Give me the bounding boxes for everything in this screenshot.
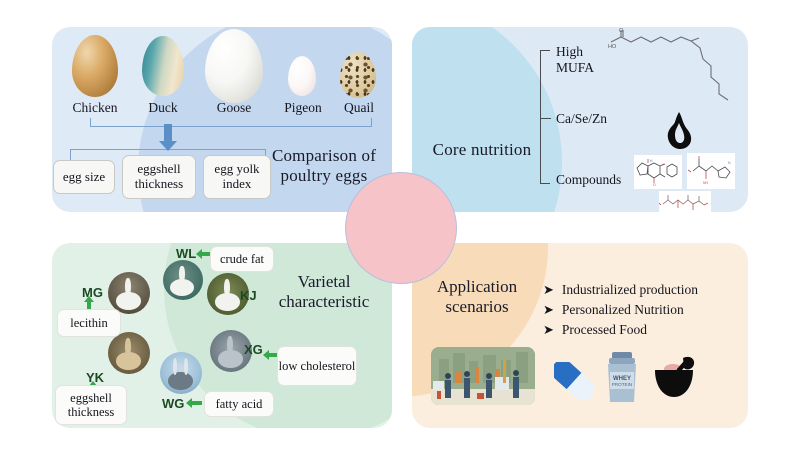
infographic-figure: Chicken Duck Goose Pigeon Quail egg size… <box>0 0 800 457</box>
bird-photo-wl <box>163 260 203 300</box>
trait-box-crude-fat: crude fat <box>211 247 273 271</box>
egg-label-pigeon: Pigeon <box>270 100 336 116</box>
trait-box-low-cholesterol: low cholesterol <box>278 347 356 385</box>
metric-box-egg-size: egg size <box>53 160 115 194</box>
egg-duck <box>142 36 184 96</box>
trait-box-fatty-acid: fatty acid <box>205 392 273 416</box>
egg-label-duck: Duck <box>130 100 196 116</box>
breed-code-wg: WG <box>162 396 184 411</box>
egg-group-bracket <box>90 118 372 127</box>
whey-protein-tub-icon: WHEY PROTEIN <box>605 352 639 404</box>
metric-box-egg-yolk-index: egg yolk index <box>203 155 271 199</box>
nutrition-bracket <box>540 50 550 184</box>
capsule-pill-icon <box>554 362 594 400</box>
quadrant-title-application: Application scenarios <box>418 277 536 317</box>
breed-code-kj: KJ <box>240 288 257 303</box>
arrow-left-icon-crude-fat <box>196 249 212 259</box>
nutrition-label-compounds: Compounds <box>556 172 638 188</box>
svg-text:NH: NH <box>703 181 708 185</box>
compound-thumbnail-2: NH N <box>687 153 735 189</box>
bullet-arrow-icon: ➤ <box>543 282 554 298</box>
svg-text:H: H <box>650 159 653 163</box>
bullet-item-industrialized-production: ➤ Industrialized production <box>543 282 698 298</box>
center-hub <box>345 172 457 284</box>
bullet-label: Personalized Nutrition <box>562 302 684 318</box>
factory-illustration <box>431 347 535 405</box>
egg-label-chicken: Chicken <box>62 100 128 116</box>
bird-photo-mg <box>108 272 150 314</box>
breed-code-xg: XG <box>244 342 263 357</box>
egg-chicken <box>72 35 118 97</box>
compound-thumbnail-1: H O <box>634 155 682 189</box>
oleic-acid-structure-icon: HO O <box>608 28 746 110</box>
whey-caption-line2: PROTEIN <box>612 382 632 387</box>
egg-pigeon <box>288 56 316 96</box>
bullet-label: Industrialized production <box>562 282 698 298</box>
svg-text:N: N <box>728 161 731 165</box>
arrow-left-icon-fatty-acid <box>186 398 202 408</box>
flame-icon <box>664 112 694 150</box>
egg-label-goose: Goose <box>200 100 268 116</box>
bullet-arrow-icon: ➤ <box>543 322 554 338</box>
bullet-item-personalized-nutrition: ➤ Personalized Nutrition <box>543 302 684 318</box>
bullet-label: Processed Food <box>562 322 647 338</box>
bird-photo-yk <box>108 332 150 374</box>
compound-thumbnail-3 <box>659 191 711 215</box>
metric-box-eggshell-thickness: eggshell thickness <box>122 155 196 199</box>
svg-text:O: O <box>653 183 656 187</box>
egg-quail <box>340 52 376 98</box>
trait-box-eggshell-thickness: eggshell thickness <box>56 386 126 424</box>
bullet-arrow-icon: ➤ <box>543 302 554 318</box>
nutrition-label-high-mufa: High MUFA <box>556 44 616 76</box>
mortar-pestle-icon <box>653 352 699 400</box>
bird-photo-wg <box>160 352 202 394</box>
nutrition-label-minerals: Ca/Se/Zn <box>556 111 634 127</box>
nutrition-bracket-tick <box>540 118 551 119</box>
quadrant-title-varietal: Varietal characteristic <box>258 272 390 312</box>
svg-text:O: O <box>619 28 624 34</box>
breed-code-wl: WL <box>176 246 196 261</box>
quadrant-title-core-nutrition: Core nutrition <box>430 140 534 160</box>
egg-label-quail: Quail <box>332 100 386 116</box>
trait-box-lecithin: lecithin <box>58 310 120 336</box>
arrow-left-icon-low-cholesterol <box>263 350 279 360</box>
bullet-item-processed-food: ➤ Processed Food <box>543 322 647 338</box>
down-arrow-icon <box>158 124 178 152</box>
